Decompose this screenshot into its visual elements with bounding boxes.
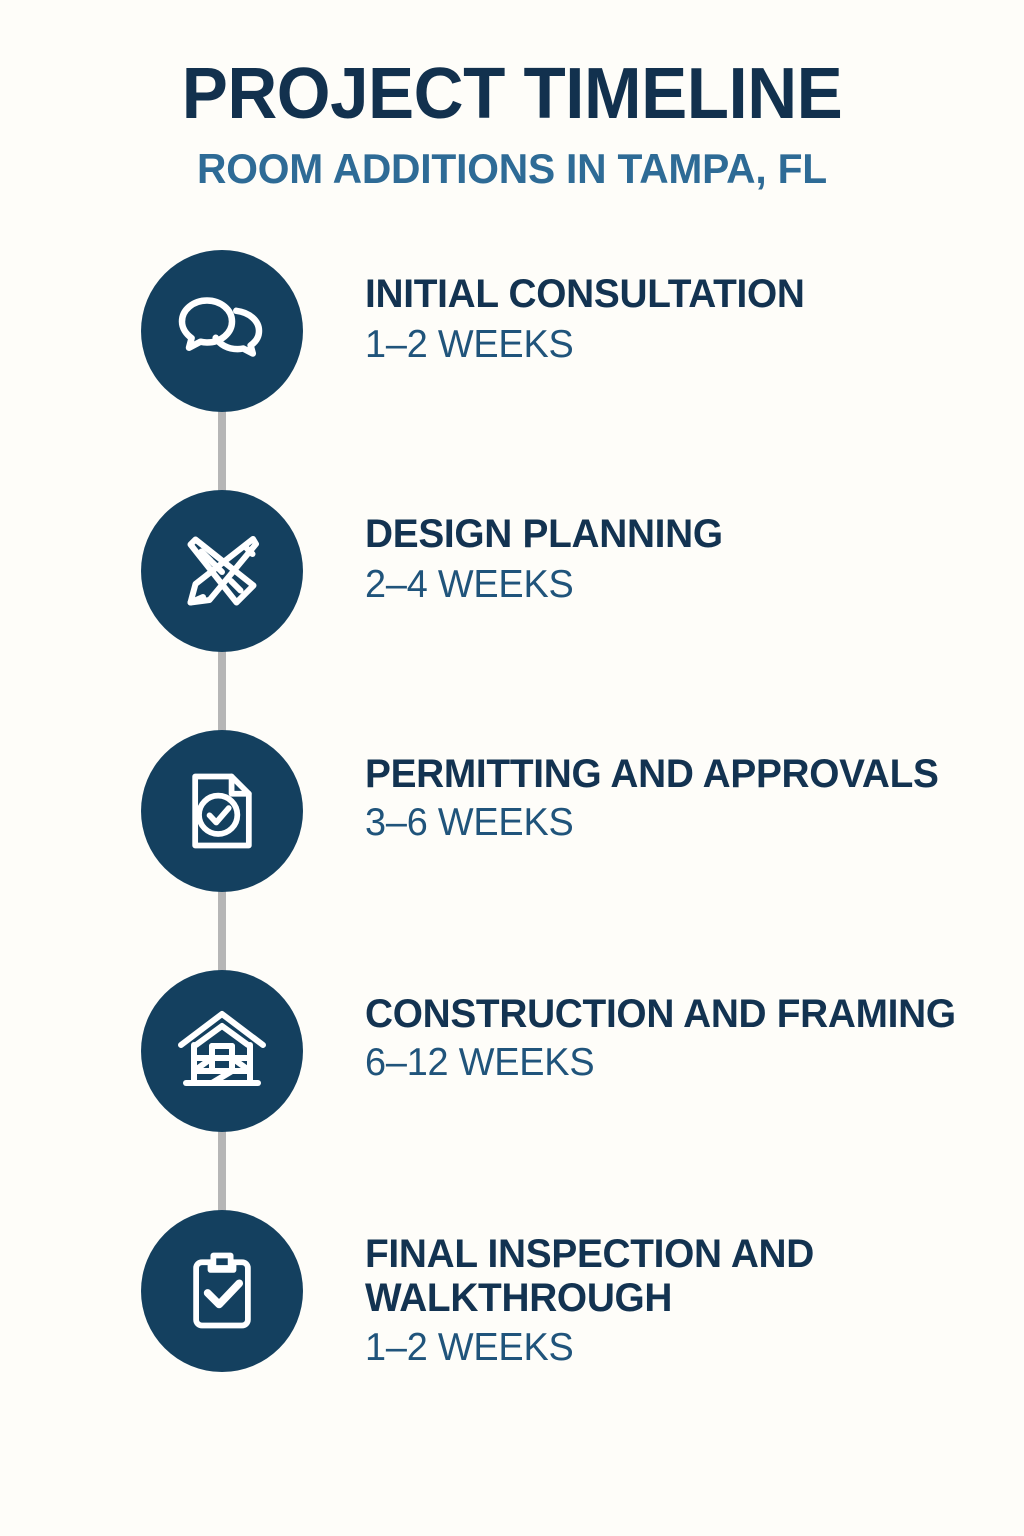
step-duration: 6–12 WEEKS [365, 1040, 1004, 1087]
clipboard-check-icon [176, 1245, 268, 1337]
step-duration: 1–2 WEEKS [365, 322, 1004, 369]
step-title: INITIAL CONSULTATION [365, 272, 1004, 317]
step-text: FINAL INSPECTION AND WALKTHROUGH 1–2 WEE… [303, 1210, 1024, 1372]
step-duration: 3–6 WEEKS [365, 800, 1004, 847]
timeline-step: INITIAL CONSULTATION 1–2 WEEKS [0, 250, 1024, 490]
step-title: PERMITTING AND APPROVALS [365, 752, 1004, 797]
step-duration: 2–4 WEEKS [365, 562, 1004, 609]
speech-bubbles-icon [174, 283, 270, 379]
step-duration: 1–2 WEEKS [365, 1325, 1004, 1372]
step-icon-badge [141, 1210, 303, 1372]
step-title: FINAL INSPECTION AND WALKTHROUGH [365, 1232, 1004, 1322]
page-subtitle: ROOM ADDITIONS IN TAMPA, FL [15, 147, 1008, 191]
infographic-page: PROJECT TIMELINE ROOM ADDITIONS IN TAMPA… [0, 0, 1024, 1536]
house-framing-icon [172, 1001, 272, 1101]
step-text: PERMITTING AND APPROVALS 3–6 WEEKS [303, 730, 1024, 848]
step-title: CONSTRUCTION AND FRAMING [365, 992, 1004, 1037]
step-text: CONSTRUCTION AND FRAMING 6–12 WEEKS [303, 970, 1024, 1088]
document-check-icon [176, 765, 268, 857]
timeline-step: DESIGN PLANNING 2–4 WEEKS [0, 490, 1024, 730]
step-icon-badge [141, 250, 303, 412]
timeline: INITIAL CONSULTATION 1–2 WEEKS [0, 250, 1024, 1490]
step-icon-badge [141, 490, 303, 652]
step-icon-badge [141, 970, 303, 1132]
step-icon-badge [141, 730, 303, 892]
step-title: DESIGN PLANNING [365, 512, 1004, 557]
timeline-step: PERMITTING AND APPROVALS 3–6 WEEKS [0, 730, 1024, 970]
timeline-step: FINAL INSPECTION AND WALKTHROUGH 1–2 WEE… [0, 1210, 1024, 1450]
pencil-ruler-icon [174, 523, 270, 619]
header: PROJECT TIMELINE ROOM ADDITIONS IN TAMPA… [0, 0, 1024, 192]
page-title: PROJECT TIMELINE [20, 58, 1003, 131]
timeline-step: CONSTRUCTION AND FRAMING 6–12 WEEKS [0, 970, 1024, 1210]
step-text: INITIAL CONSULTATION 1–2 WEEKS [303, 250, 1024, 370]
step-text: DESIGN PLANNING 2–4 WEEKS [303, 490, 1024, 610]
